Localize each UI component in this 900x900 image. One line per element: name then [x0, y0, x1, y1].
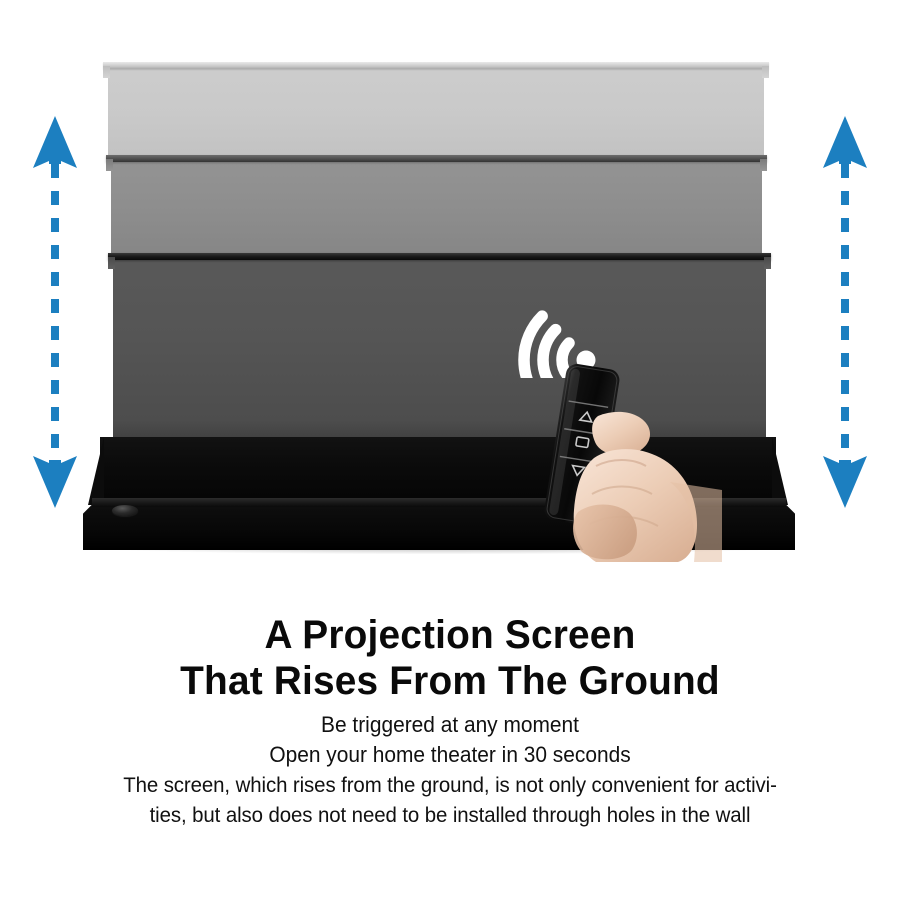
- arrowhead-down: [33, 456, 77, 508]
- subtext: Be triggered at any moment Open your hom…: [0, 710, 900, 830]
- screen-face-mid: [111, 155, 762, 255]
- thumb: [592, 412, 650, 456]
- screen-face-raised: [108, 62, 764, 158]
- arrowhead-down: [823, 456, 867, 508]
- screen-top-bar-mid: [106, 155, 767, 162]
- headline-line-2: That Rises From The Ground: [14, 658, 887, 704]
- motion-arrow-left: [27, 114, 83, 510]
- arrowhead-up: [33, 116, 77, 168]
- screen-top-bar-raised: [103, 62, 769, 69]
- screen-layer-raised-ghost: [108, 62, 764, 158]
- subtext-line-2: Open your home theater in 30 seconds: [23, 740, 878, 770]
- marketing-text-block: A Projection Screen That Rises From The …: [0, 612, 900, 830]
- arrowhead-up: [823, 116, 867, 168]
- headline: A Projection Screen That Rises From The …: [0, 612, 900, 704]
- subtext-line-1: Be triggered at any moment: [23, 710, 878, 740]
- subtext-line-3: The screen, which rises from the ground,…: [23, 770, 878, 800]
- lower-finger: [573, 505, 637, 560]
- base-control-dial: [112, 505, 138, 516]
- screen-layer-mid-ghost: [111, 155, 762, 255]
- product-banner-page: A Projection Screen That Rises From The …: [0, 0, 900, 900]
- screen-top-bar-front: [108, 253, 771, 260]
- subtext-line-4: ties, but also does not need to be insta…: [23, 800, 878, 830]
- hand-holding-remote: [536, 362, 722, 562]
- motion-arrow-right: [817, 114, 873, 510]
- headline-line-1: A Projection Screen: [14, 612, 887, 658]
- product-photo: [0, 0, 900, 600]
